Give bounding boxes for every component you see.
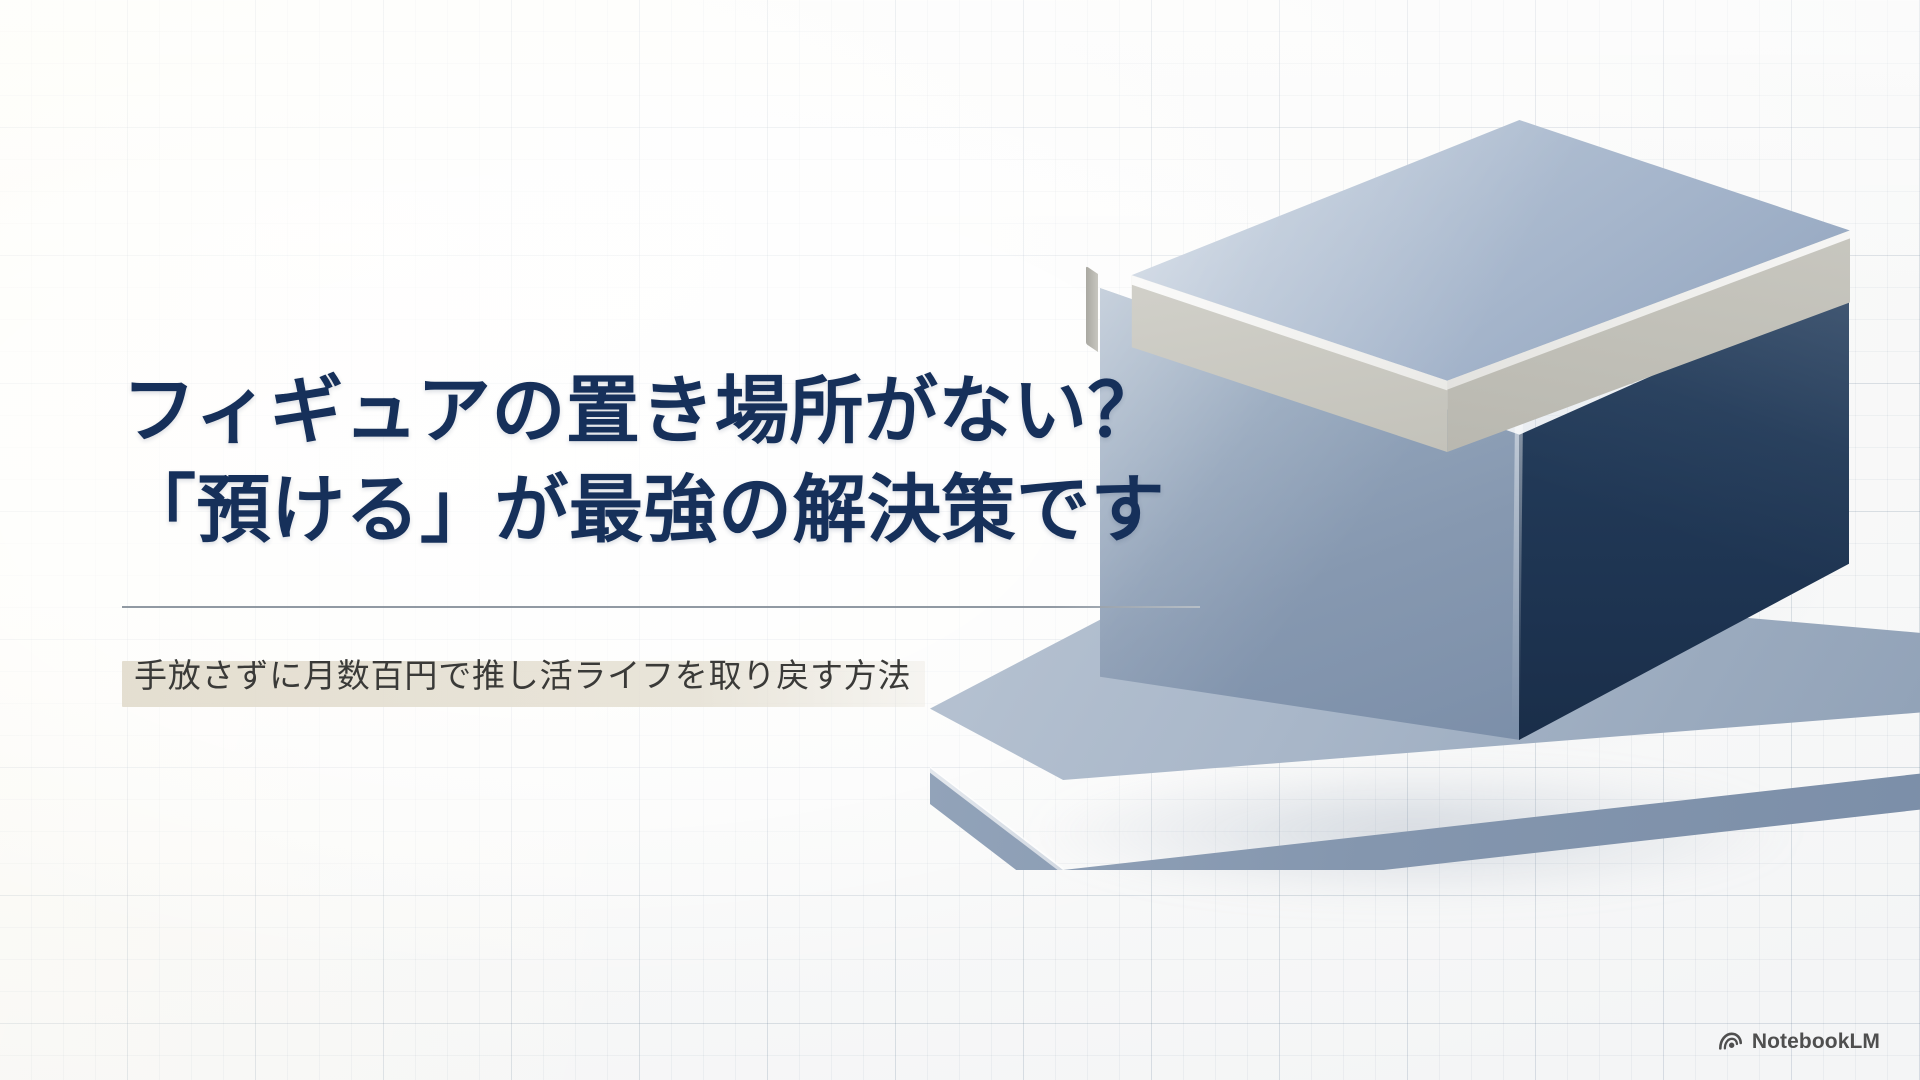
title-divider (122, 606, 1200, 608)
slide-canvas: フィギュアの置き場所がない？ 「預ける」が最強の解決策です 手放さずに月数百円で… (0, 0, 1920, 1080)
subtitle-wrapper: 手放さずに月数百円で推し活ライフを取り戻す方法 (122, 646, 925, 709)
notebooklm-watermark: NotebookLM (1718, 1029, 1880, 1054)
storage-box-illustration (1120, 60, 1920, 1020)
notebooklm-arc-icon (1718, 1029, 1743, 1054)
notebooklm-wordmark: NotebookLM (1752, 1030, 1880, 1054)
title-block: フィギュアの置き場所がない？ 「預ける」が最強の解決策です 手放さずに月数百円で… (122, 366, 1232, 709)
headline-line-2: 「預ける」が最強の解決策です (122, 465, 1232, 558)
box-lid-left-edge (1086, 266, 1098, 352)
headline-line-1: フィギュアの置き場所がない？ (122, 366, 1232, 459)
subtitle: 手放さずに月数百円で推し活ライフを取り戻す方法 (134, 655, 911, 698)
page-title: フィギュアの置き場所がない？ 「預ける」が最強の解決策です (122, 366, 1232, 558)
